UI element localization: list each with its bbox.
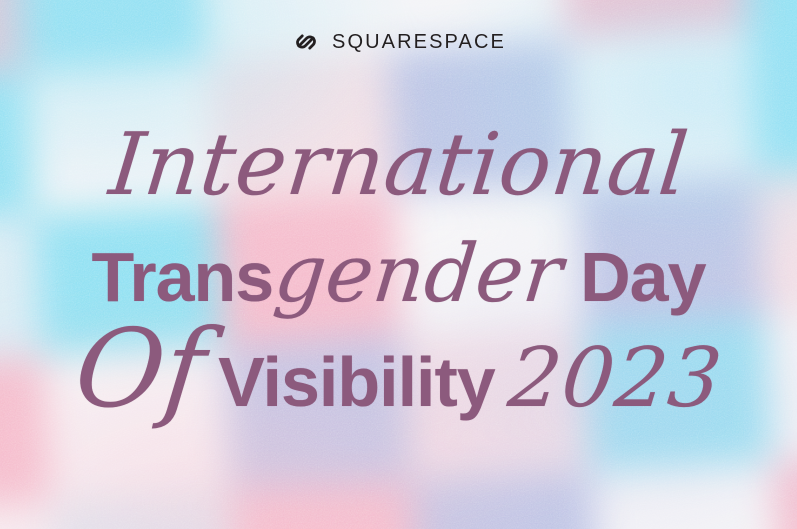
headline-word-international: International xyxy=(105,122,691,208)
headline-line-of-visibility-2023: Of Visibility 2023 xyxy=(76,338,722,420)
headline-year-2023: 2023 xyxy=(504,338,725,420)
headline-word-gender: gender xyxy=(271,234,566,314)
headline-block: International Trans gender Day Of Visibi… xyxy=(0,0,797,529)
headline-word-trans: Trans xyxy=(91,242,273,312)
squarespace-wordmark: SQUARESPACE xyxy=(332,32,506,52)
squarespace-logo-mark xyxy=(291,27,321,57)
headline-line-transgender-day: Trans gender Day xyxy=(91,234,705,314)
headline-word-visibility: Visibility xyxy=(218,347,495,417)
headline-line-international: International xyxy=(110,122,687,208)
headline-word-of: Of xyxy=(72,338,207,403)
headline-word-day: Day xyxy=(580,242,705,312)
squarespace-logo-lockup: SQUARESPACE xyxy=(0,27,797,57)
poster-canvas: SQUARESPACE International Trans gender D… xyxy=(0,0,797,529)
